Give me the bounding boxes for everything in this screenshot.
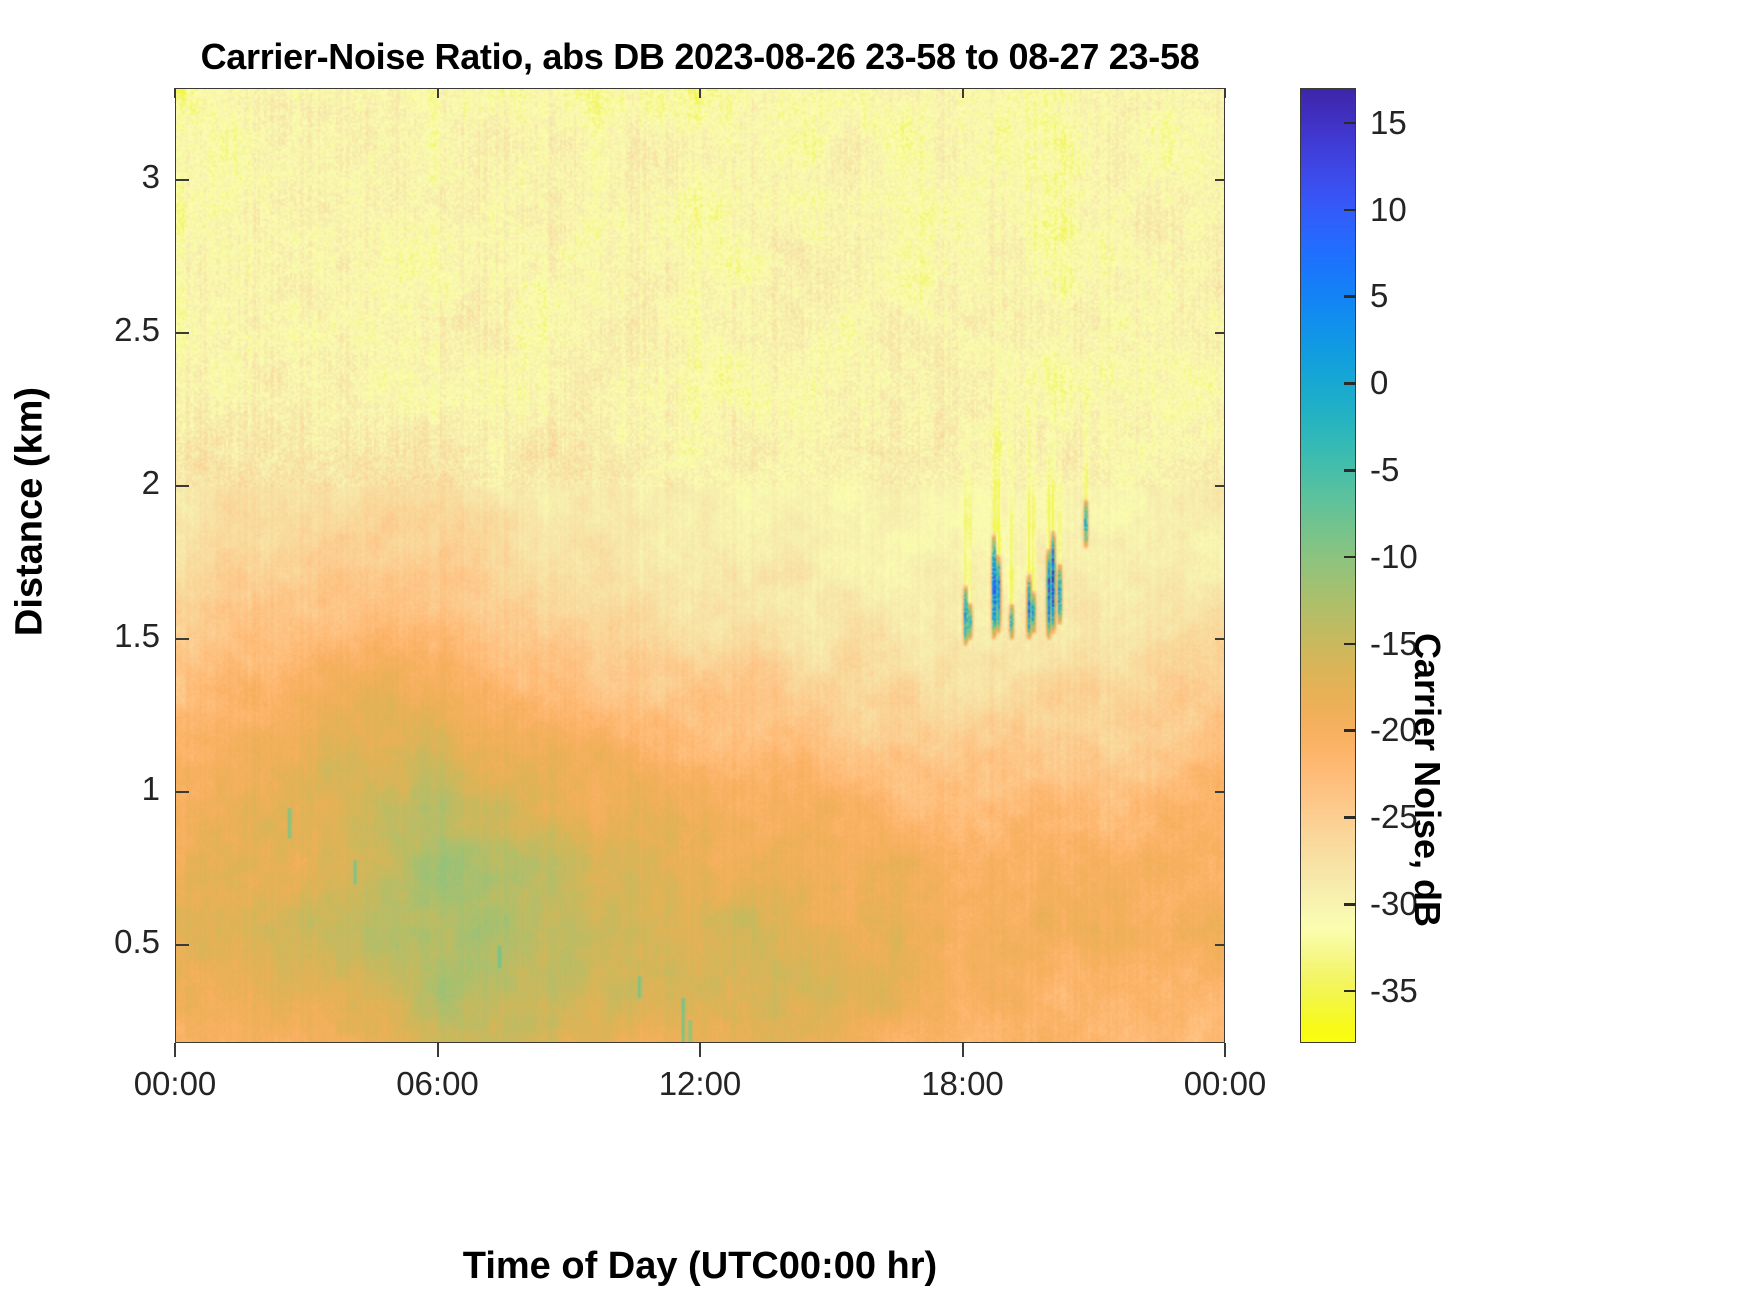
colorbar-tick-label: 15 [1370, 104, 1407, 142]
colorbar-gradient [1300, 88, 1356, 1043]
y-tick-label: 2 [142, 464, 160, 502]
y-tick-mark [175, 791, 189, 793]
x-tick-mark [1224, 1043, 1226, 1057]
x-tick-label: 00:00 [1184, 1065, 1267, 1103]
x-tick-label: 00:00 [134, 1065, 217, 1103]
colorbar-tick-label: 0 [1370, 364, 1388, 402]
y-tick-mark-right [1215, 179, 1225, 181]
figure-canvas: Carrier-Noise Ratio, abs DB 2023-08-26 2… [0, 0, 1750, 1313]
y-tick-label: 1.5 [114, 617, 160, 655]
x-tick-label: 06:00 [396, 1065, 479, 1103]
y-tick-label: 3 [142, 158, 160, 196]
colorbar-tick-label: -5 [1370, 451, 1399, 489]
colorbar-tick-mark [1344, 643, 1356, 646]
y-tick-mark-right [1215, 332, 1225, 334]
colorbar-tick-mark [1344, 122, 1356, 125]
colorbar-tick-mark [1344, 382, 1356, 385]
y-tick-mark-right [1215, 944, 1225, 946]
y-tick-mark-right [1215, 485, 1225, 487]
y-tick-mark-right [1215, 638, 1225, 640]
colorbar-tick-mark [1344, 990, 1356, 993]
x-tick-mark [962, 1043, 964, 1057]
x-tick-mark-top [437, 88, 439, 98]
colorbar-tick-mark [1344, 729, 1356, 732]
x-tick-mark [174, 1043, 176, 1057]
colorbar-tick-mark [1344, 209, 1356, 212]
x-tick-label: 12:00 [659, 1065, 742, 1103]
y-tick-label: 0.5 [114, 923, 160, 961]
y-tick-mark [175, 638, 189, 640]
x-tick-mark-top [1224, 88, 1226, 98]
colorbar-tick-label: 10 [1370, 191, 1407, 229]
y-tick-mark [175, 944, 189, 946]
colorbar-tick-mark [1344, 469, 1356, 472]
colorbar-tick-label: 5 [1370, 277, 1388, 315]
y-tick-mark-right [1215, 791, 1225, 793]
y-axis-label: Distance (km) [9, 302, 52, 722]
colorbar-tick-mark [1344, 295, 1356, 298]
x-tick-mark [437, 1043, 439, 1057]
colorbar-tick-mark [1344, 816, 1356, 819]
page-title: Carrier-Noise Ratio, abs DB 2023-08-26 2… [175, 36, 1225, 78]
x-tick-mark-top [699, 88, 701, 98]
x-tick-mark-top [174, 88, 176, 98]
x-tick-mark [699, 1043, 701, 1057]
y-tick-mark [175, 485, 189, 487]
y-tick-label: 2.5 [114, 311, 160, 349]
colorbar-tick-mark [1344, 556, 1356, 559]
colorbar-tick-mark [1344, 903, 1356, 906]
y-tick-mark [175, 332, 189, 334]
colorbar[interactable]: 151050-5-10-15-20-25-30-35 [1300, 88, 1356, 1043]
x-tick-mark-top [962, 88, 964, 98]
colorbar-label: Carrier Noise, dB [1406, 565, 1448, 995]
x-axis-label: Time of Day (UTC00:00 hr) [175, 1245, 1225, 1288]
heatmap-axes[interactable] [175, 88, 1225, 1043]
y-tick-label: 1 [142, 770, 160, 808]
x-tick-label: 18:00 [921, 1065, 1004, 1103]
heatmap-image [176, 89, 1225, 1043]
y-tick-mark [175, 179, 189, 181]
